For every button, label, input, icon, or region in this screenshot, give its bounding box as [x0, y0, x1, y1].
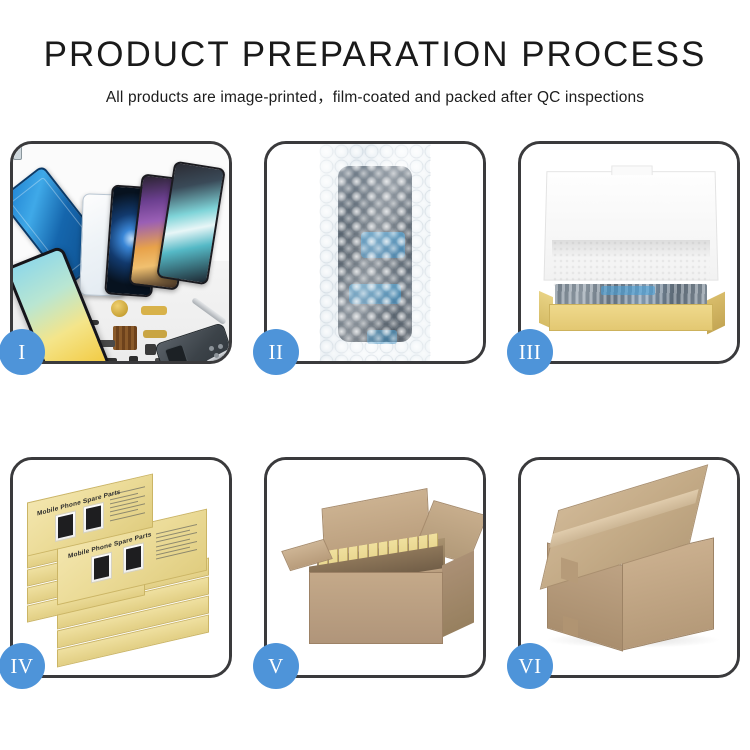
open-carton — [283, 486, 473, 658]
speaker-part-icon — [111, 300, 128, 317]
chip-part-icon — [129, 356, 138, 361]
box-spec-lines — [110, 487, 145, 524]
step-2-image — [267, 144, 483, 361]
process-step-panel-5: V — [264, 457, 486, 678]
flex-cable-icon — [141, 306, 167, 315]
step-badge-5: V — [253, 643, 299, 689]
box-screen-image — [55, 510, 76, 542]
box-spec-lines — [156, 524, 197, 563]
screws-icon — [209, 344, 229, 360]
carton-front-panel — [309, 572, 443, 644]
page-subtitle: All products are image-printed，film-coat… — [0, 85, 750, 107]
box-screen-image — [83, 501, 104, 533]
process-step-panel-2: II — [264, 141, 486, 364]
process-step-panel-3: III — [518, 141, 740, 364]
box-label-text: Mobile Phone Spare Parts — [37, 489, 121, 518]
step-badge-6: VI — [507, 643, 553, 689]
flex-cable-icon — [143, 330, 167, 338]
chip-part-icon — [145, 344, 156, 355]
step-4-image: Mobile Phone Spare Parts Mobile Phone Sp… — [13, 460, 229, 675]
step-1-image — [13, 144, 229, 361]
box-inner-shadow — [552, 240, 710, 258]
box-screen-image — [91, 552, 112, 584]
plastic-gloss — [319, 144, 431, 361]
box-stack: Mobile Phone Spare Parts Mobile Phone Sp… — [21, 474, 227, 670]
mesh-part-icon — [113, 326, 137, 350]
step-badge-1: I — [0, 329, 45, 375]
battery-part-icon — [13, 144, 22, 160]
box-screen-image — [123, 542, 144, 574]
step-badge-3: III — [507, 329, 553, 375]
header: PRODUCT PREPARATION PROCESS All products… — [0, 0, 750, 107]
process-steps-grid: I II III — [10, 141, 740, 678]
step-6-image — [521, 460, 737, 675]
process-step-panel-1: I — [10, 141, 232, 364]
process-step-panel-6: VI — [518, 457, 740, 678]
step-badge-4: IV — [0, 643, 45, 689]
process-step-panel-4: Mobile Phone Spare Parts Mobile Phone Sp… — [10, 457, 232, 678]
carton-side-panel — [442, 551, 474, 638]
page-title: PRODUCT PREPARATION PROCESS — [0, 34, 750, 76]
sealed-carton — [535, 482, 727, 662]
step-badge-2: II — [253, 329, 299, 375]
box-front-panel — [549, 304, 713, 331]
step-5-image — [267, 460, 483, 675]
step-3-image — [521, 144, 737, 361]
